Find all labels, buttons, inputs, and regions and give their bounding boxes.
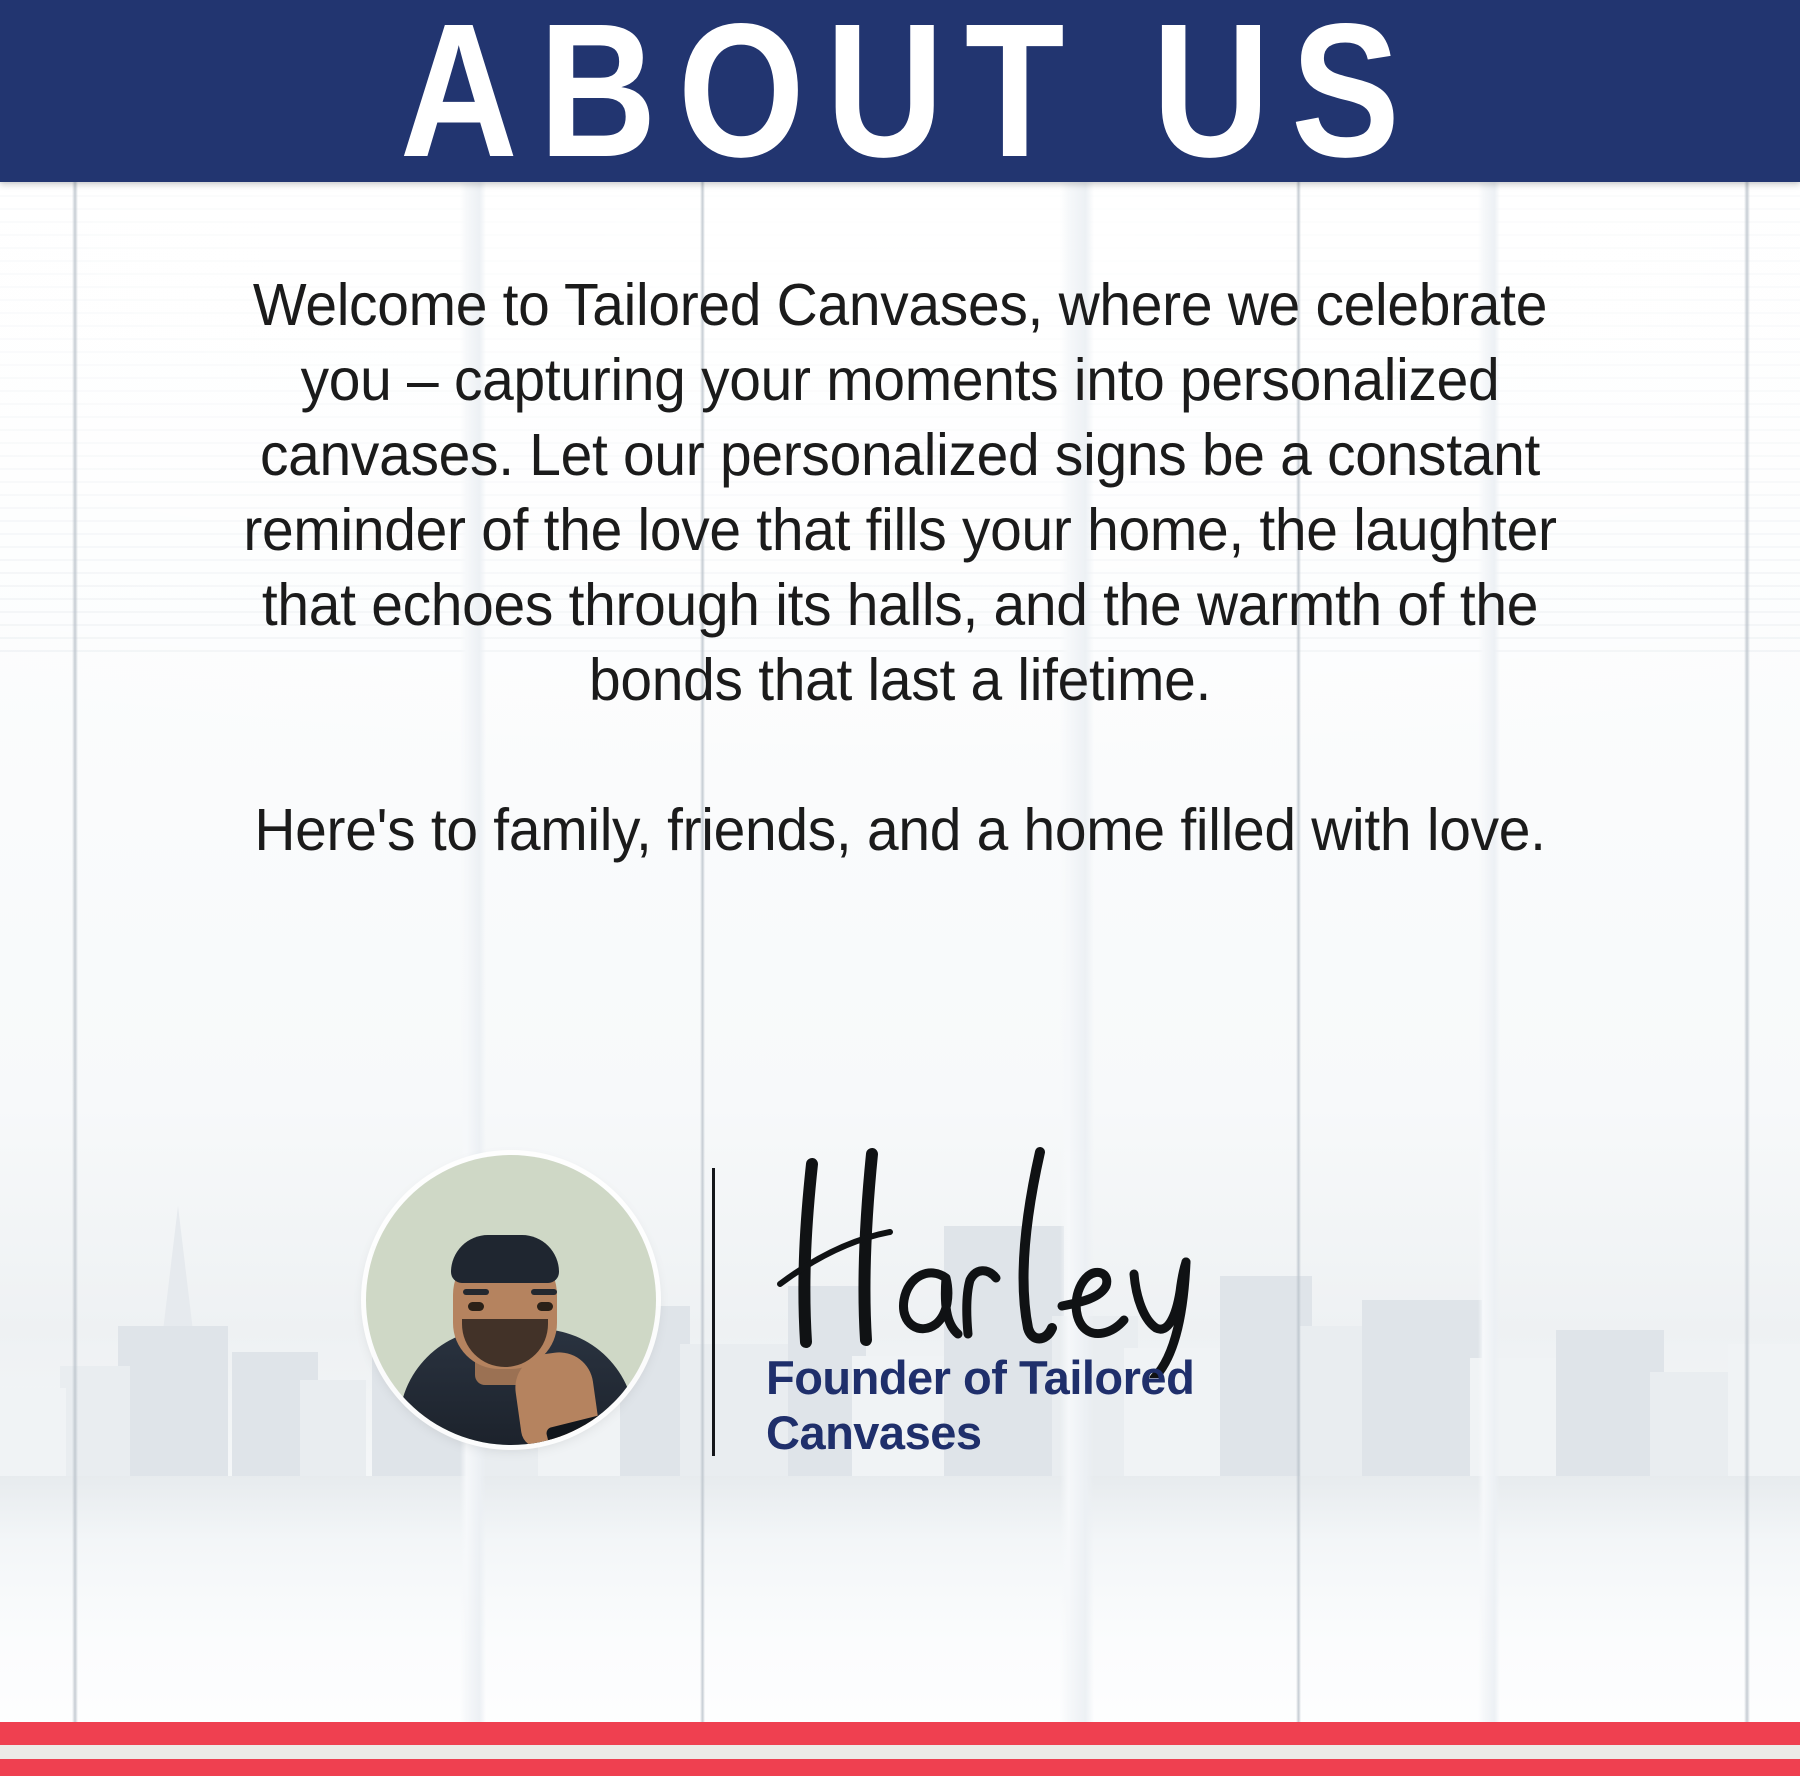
- signature-harley-icon: [740, 1128, 1440, 1378]
- paragraph-2: Here's to family, friends, and a home fi…: [225, 793, 1576, 868]
- footer-stripe-gap: [0, 1745, 1800, 1759]
- paragraph-1: Welcome to Tailored Canvases, where we c…: [225, 268, 1576, 718]
- avatar-figure: [366, 1230, 656, 1445]
- page-title: ABOUT US: [379, 0, 1421, 186]
- founder-role: Founder of Tailored Canvases: [766, 1350, 1406, 1460]
- founder-role-line-2: Canvases: [766, 1405, 1406, 1460]
- header-band: ABOUT US: [0, 0, 1800, 182]
- signature: [740, 1128, 1440, 1378]
- footer-stripe-top: [0, 1722, 1800, 1745]
- avatar: [366, 1155, 656, 1445]
- founder-block: Founder of Tailored Canvases: [0, 1150, 1800, 1480]
- footer-stripe-bottom: [0, 1759, 1800, 1776]
- about-copy: Welcome to Tailored Canvases, where we c…: [225, 268, 1576, 868]
- paragraph-spacer: [225, 718, 1576, 793]
- vertical-divider: [712, 1168, 715, 1456]
- about-us-card: ABOUT US Welcome to Tailored Canvases, w…: [0, 0, 1800, 1776]
- founder-role-line-1: Founder of Tailored: [766, 1350, 1406, 1405]
